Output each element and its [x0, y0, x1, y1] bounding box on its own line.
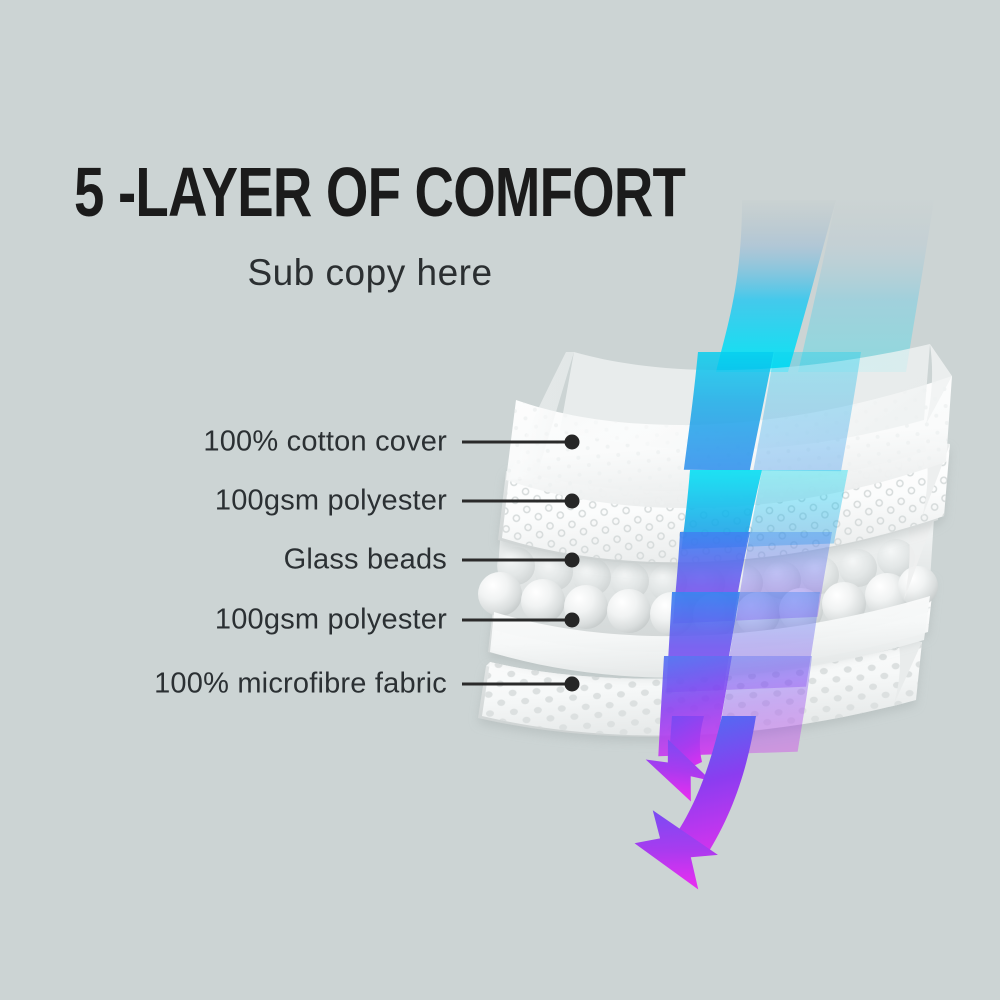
layer-label-microfibre-fabric: 100% microfibre fabric [154, 668, 447, 701]
leader-dot-5 [565, 677, 580, 692]
flow-band-upper [716, 200, 934, 372]
leader-dot-3 [565, 553, 580, 568]
page-title: 5 -LAYER OF COMFORT [74, 157, 558, 227]
leader-dot-2 [565, 494, 580, 509]
leader-line-4 [462, 619, 566, 622]
layer-label-polyester-upper: 100gsm polyester [215, 485, 447, 518]
poster-canvas: 5 -LAYER OF COMFORT Sub copy here 100% c… [0, 0, 1000, 1000]
leader-dot-1 [565, 435, 580, 450]
leader-dot-4 [565, 613, 580, 628]
leader-line-2 [462, 500, 566, 503]
leader-line-5 [462, 683, 566, 686]
page-subtitle: Sub copy here [0, 252, 740, 294]
layer-label-cotton-cover: 100% cotton cover [203, 426, 447, 459]
leader-line-3 [462, 559, 566, 562]
layer-label-glass-beads: Glass beads [284, 544, 447, 577]
leader-line-1 [462, 441, 566, 444]
layer-label-polyester-lower: 100gsm polyester [215, 604, 447, 637]
